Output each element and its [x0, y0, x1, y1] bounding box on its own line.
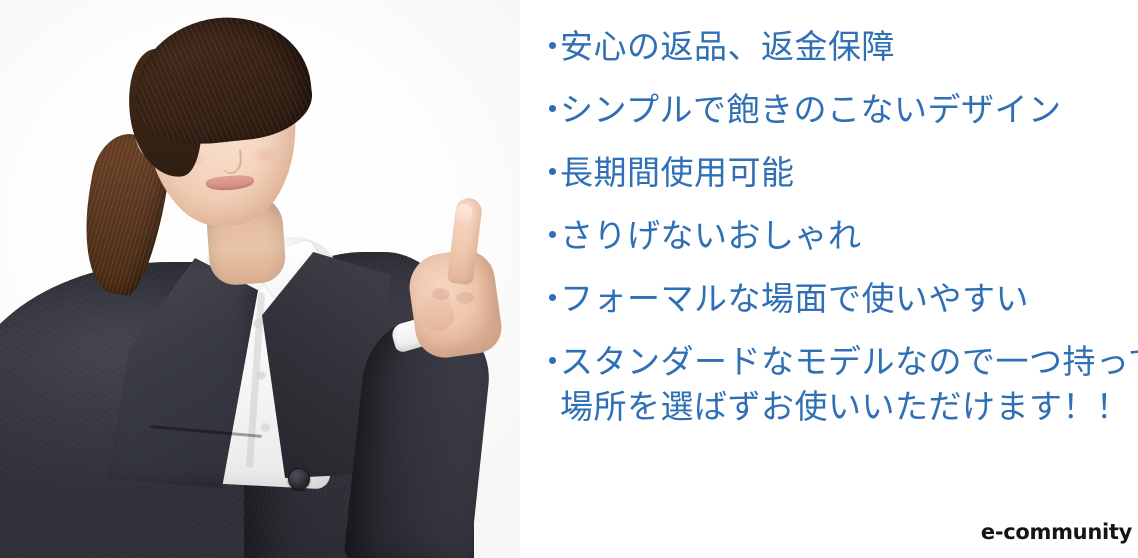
- bullet-marker-icon: ・: [536, 93, 560, 126]
- bullet-item-5: ・ フォーマルな場面で使いやすい: [536, 282, 1136, 315]
- knuckle: [456, 292, 474, 304]
- bullet-marker-icon: ・: [536, 30, 560, 63]
- bullet-text-5: フォーマルな場面で使いやすい: [560, 282, 1029, 315]
- bullet-text-6: スタンダードなモデルなので一つ持っておけば 場所を選ばずお使いいただけます！！: [560, 345, 1138, 423]
- bullet-text-3: 長期間使用可能: [560, 156, 795, 189]
- bullet-text-6-line1: スタンダードなモデルなので一つ持っておけば: [560, 343, 1138, 380]
- blouse-button: [262, 424, 269, 431]
- bullet-text-6-line2: 場所を選ばずお使いいただけます！！: [560, 390, 1138, 423]
- cheek-right: [250, 146, 280, 164]
- bullet-item-4: ・ さりげないおしゃれ: [536, 219, 1136, 252]
- knuckle: [432, 288, 450, 300]
- brand-logo: e-community: [981, 520, 1132, 544]
- bullet-text-2: シンプルで飽きのこないデザイン: [560, 93, 1062, 126]
- bullet-text-1: 安心の返品、返金保障: [560, 30, 895, 63]
- promo-banner: ・ 安心の返品、返金保障 ・ シンプルで飽きのこないデザイン ・ 長期間使用可能…: [0, 0, 1138, 558]
- bullet-item-1: ・ 安心の返品、返金保障: [536, 30, 1136, 63]
- bullet-item-3: ・ 長期間使用可能: [536, 156, 1136, 189]
- bullet-marker-icon: ・: [536, 345, 560, 378]
- feature-bullet-list: ・ 安心の返品、返金保障 ・ シンプルで飽きのこないデザイン ・ 長期間使用可能…: [536, 30, 1136, 453]
- bullet-item-6: ・ スタンダードなモデルなので一つ持っておけば 場所を選ばずお使いいただけます！…: [536, 345, 1136, 423]
- model-photo: [0, 0, 520, 558]
- bullet-marker-icon: ・: [536, 282, 560, 315]
- fingernail: [455, 203, 473, 223]
- bullet-marker-icon: ・: [536, 219, 560, 252]
- blouse-button: [254, 320, 261, 327]
- bullet-marker-icon: ・: [536, 156, 560, 189]
- blouse-button: [258, 372, 265, 379]
- bullet-text-4: さりげないおしゃれ: [560, 219, 862, 252]
- bullet-item-2: ・ シンプルで飽きのこないデザイン: [536, 93, 1136, 126]
- jacket-button: [288, 468, 310, 490]
